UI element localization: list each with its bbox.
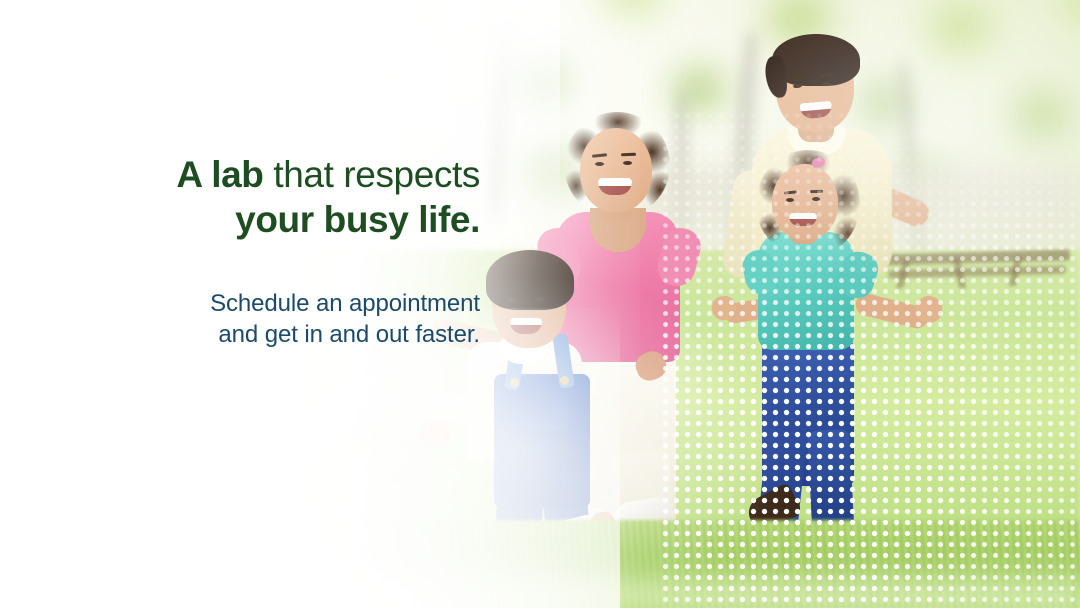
boy-teeth [510,318,542,325]
marketing-banner: A lab that respects your busy life. Sche… [0,0,1080,608]
foreground-grass-blur [0,556,1080,608]
boy-eye [536,297,545,301]
girl-eye [786,198,794,202]
subheadline-line-2: and get in and out faster. [0,319,480,350]
boy-overalls-button [560,376,569,385]
woman-eye [595,162,604,166]
boy-eye [507,298,516,302]
woman-eyebrow [621,153,636,157]
page-title: A lab that respects your busy life. [0,152,480,242]
headline-line-1-rest: that respects [263,154,480,195]
headline-emphasis: A lab [176,154,263,195]
boy-overalls-button [510,378,519,387]
girl-eyebrow [810,190,823,193]
headline-line-1: A lab that respects [0,152,480,197]
woman-head [580,128,652,212]
woman-teeth [598,178,632,186]
girl-eye [812,197,820,201]
headline-line-2: your busy life. [0,197,480,242]
girl-mouth [789,213,817,226]
man-teeth [799,101,832,112]
subheadline-line-1: Schedule an appointment [0,288,480,319]
hero-copy: A lab that respects your busy life. Sche… [0,152,480,350]
boy-hair [486,250,574,310]
girl-head [772,164,838,240]
woman-eye [623,161,632,165]
girl-teeth [789,213,817,219]
hero-subheadline: Schedule an appointment and get in and o… [0,288,480,350]
